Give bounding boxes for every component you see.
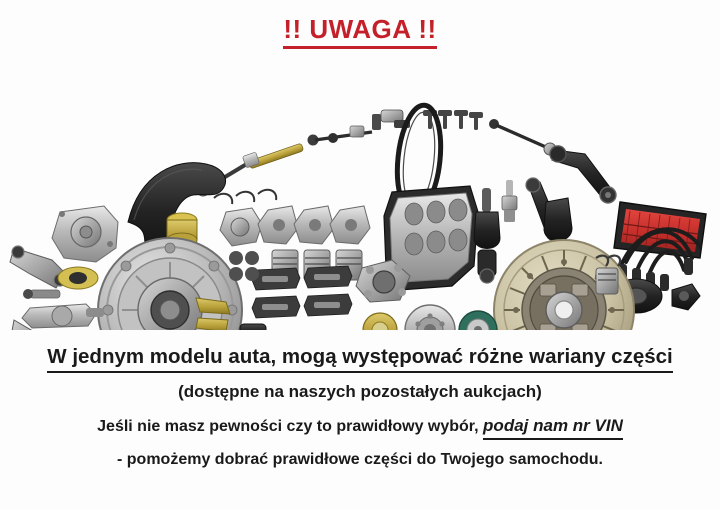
notice-line-2: (dostępne na naszych pozostałych aukcjac…: [0, 380, 720, 404]
piston-right-part: [596, 268, 618, 294]
engine-mount-part: [58, 267, 98, 289]
sensor-part: [672, 284, 700, 310]
thermostat-housing-part: [220, 208, 262, 246]
control-arm-left-part: [10, 246, 66, 288]
brake-pads-part: [252, 266, 352, 318]
water-pump-part: [52, 206, 118, 262]
notice-line-1-text: W jednym modelu auta, mogą występować ró…: [47, 344, 672, 373]
spark-plug-part: [502, 180, 517, 222]
intake-manifold-gasket-part: [258, 206, 370, 244]
master-cylinder-part: [22, 304, 104, 328]
clutch-pressure-plate-wheel-part: [98, 238, 242, 330]
vin-emphasis-text: podaj nam nr VIN: [483, 414, 623, 440]
valve-seals-part: [229, 251, 259, 281]
retaining-clips-part: [214, 190, 276, 204]
notice-line-1: W jednym modelu auta, mogą występować ró…: [0, 344, 720, 373]
notice-page: !! UWAGA !!: [0, 0, 720, 510]
notice-line-3-prefix: Jeśli nie masz pewności czy to prawidłow…: [97, 418, 478, 435]
brake-disc-part: [405, 305, 455, 330]
car-silhouette-graphic: [0, 62, 720, 330]
wheel-bearing-part: [363, 313, 397, 330]
page-title: !! UWAGA !!: [0, 14, 720, 49]
notice-text-block: W jednym modelu auta, mogą występować ró…: [0, 340, 720, 472]
shock-absorber-part: [474, 188, 500, 283]
injector-part: [23, 289, 60, 299]
notice-line-4: - pomożemy dobrać prawidłowe części do T…: [0, 448, 720, 472]
notice-line-3: Jeśli nie masz pewności czy to prawidłow…: [0, 414, 720, 440]
car-parts-collage-image: [0, 62, 720, 330]
page-title-text: !! UWAGA !!: [283, 14, 436, 49]
tensioner-pulley-part: [459, 311, 497, 330]
stabilizer-link-part: [315, 126, 372, 143]
stabilizer-link-right-part: [489, 119, 556, 155]
control-arm-part: [550, 146, 616, 203]
